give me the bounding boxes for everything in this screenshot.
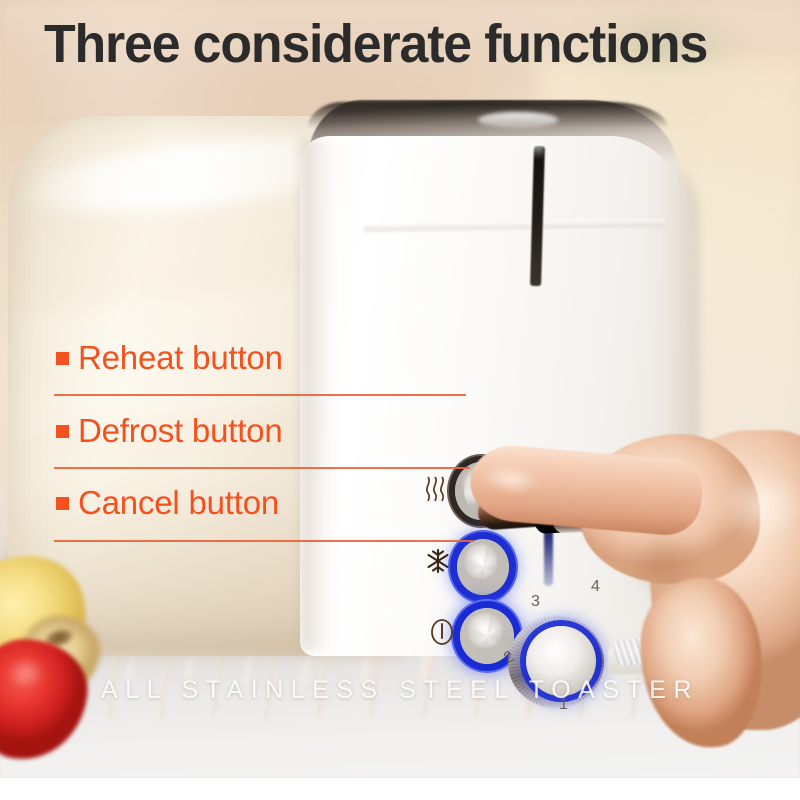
callout-cancel: Cancel button (56, 485, 279, 521)
watermark-text: ALL STAINLESS STEEL TOASTER (0, 676, 800, 705)
power-icon (428, 617, 456, 647)
bread-slot-glint (530, 142, 544, 158)
defrost-button-brushed-face (462, 545, 504, 590)
toaster-top-glint (478, 112, 558, 128)
square-bullet-icon (56, 425, 69, 438)
leader-line-cancel (54, 540, 474, 542)
lever-led-glow (584, 514, 610, 523)
product-marketing-image: 1 2 3 4 Three considerate functions (0, 0, 800, 800)
dial-number-3: 3 (531, 593, 540, 611)
callout-label-cancel: Cancel button (78, 485, 279, 521)
square-bullet-icon (56, 352, 69, 365)
dial-number-4: 4 (591, 578, 600, 596)
callout-reheat: Reheat button (56, 340, 283, 376)
square-bullet-icon (56, 497, 69, 510)
heat-waves-icon (424, 474, 450, 504)
callout-label-reheat: Reheat button (78, 340, 283, 376)
callout-label-defrost: Defrost button (78, 413, 282, 449)
leader-line-reheat (54, 394, 466, 396)
toaster: 1 2 3 4 (8, 96, 708, 666)
lever-knob-tip[interactable] (615, 487, 663, 535)
defrost-button[interactable] (457, 539, 509, 595)
callout-defrost: Defrost button (56, 413, 282, 449)
bottom-white-band (0, 778, 800, 800)
product-photo: 1 2 3 4 Three considerate functions (0, 0, 800, 778)
snowflake-icon (426, 548, 450, 574)
leader-line-defrost (54, 467, 470, 469)
toaster-panel-right-edge (648, 152, 700, 652)
page-title: Three considerate functions (44, 14, 707, 74)
